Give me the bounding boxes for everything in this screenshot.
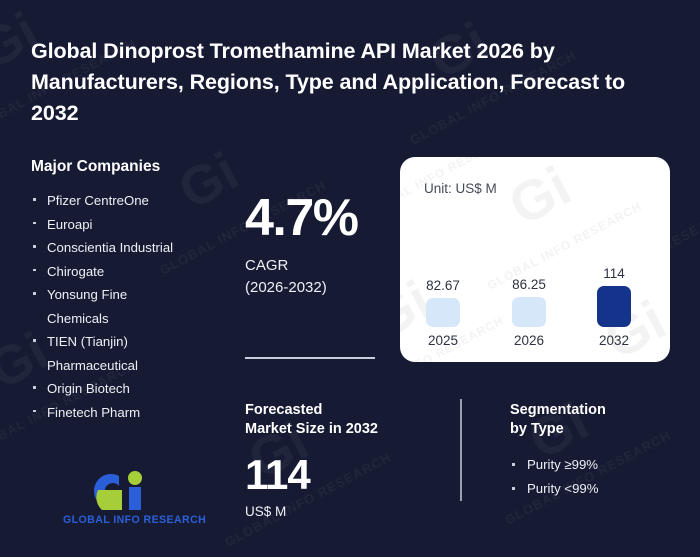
bar-category-label: 2025 xyxy=(428,333,458,348)
bullet-icon xyxy=(33,222,36,225)
segmentation-section: Segmentation by Type Purity ≥99% Purity … xyxy=(510,401,685,501)
major-companies-heading: Major Companies xyxy=(31,158,231,176)
list-item: Purity ≥99% xyxy=(510,453,685,477)
bar-value-label: 82.67 xyxy=(426,278,460,293)
cagr-label-line2: (2026-2032) xyxy=(245,277,385,299)
bullet-icon xyxy=(33,339,36,342)
forecast-heading-line2: Market Size in 2032 xyxy=(245,420,445,439)
bar-group-2032: 114 2032 xyxy=(586,266,642,348)
bar-value-label: 86.25 xyxy=(512,277,546,292)
company-label: Yonsung Fine xyxy=(47,287,127,302)
list-item: TIEN (Tianjin) xyxy=(31,330,231,354)
segmentation-heading-line1: Segmentation xyxy=(510,401,685,420)
list-item: Pfizer CentreOne xyxy=(31,189,231,213)
bullet-icon xyxy=(33,292,36,295)
segmentation-heading-line2: by Type xyxy=(510,420,685,439)
market-size-chart-card: Gi GLOBAL INFO RESEARCH Gi GLOBAL INFO R… xyxy=(400,157,670,362)
cagr-value: 4.7% xyxy=(245,190,385,246)
list-item-continuation: Chemicals xyxy=(31,307,231,331)
bar-2032 xyxy=(597,286,631,327)
segmentation-label: Purity ≥99% xyxy=(527,457,598,472)
company-label: Origin Biotech xyxy=(47,381,130,396)
bullet-icon xyxy=(512,487,515,490)
company-label: Chirogate xyxy=(47,264,104,279)
forecast-heading: Forecasted Market Size in 2032 xyxy=(245,401,445,439)
list-item: Finetech Pharm xyxy=(31,401,231,425)
company-label: Euroapi xyxy=(47,217,92,232)
page-title: Global Dinoprost Tromethamine API Market… xyxy=(31,36,671,129)
horizontal-divider xyxy=(245,357,375,359)
bullet-icon xyxy=(33,245,36,248)
major-companies-section: Major Companies Pfizer CentreOne Euroapi… xyxy=(31,158,231,424)
list-item: Euroapi xyxy=(31,213,231,237)
bullet-icon xyxy=(33,386,36,389)
logo-wordmark: GLOBAL INFO RESEARCH xyxy=(63,514,203,526)
forecast-value: 114 xyxy=(245,452,445,498)
bar-category-label: 2026 xyxy=(514,333,544,348)
bullet-icon xyxy=(33,198,36,201)
cagr-label: CAGR (2026-2032) xyxy=(245,255,385,299)
company-label: Pharmaceutical xyxy=(47,358,138,373)
bar-category-label: 2032 xyxy=(599,333,629,348)
cagr-label-line1: CAGR xyxy=(245,255,385,277)
bullet-icon xyxy=(512,463,515,466)
list-item: Conscientia Industrial xyxy=(31,236,231,260)
list-item: Purity <99% xyxy=(510,477,685,501)
company-label: Finetech Pharm xyxy=(47,405,140,420)
segmentation-list: Purity ≥99% Purity <99% xyxy=(510,453,685,501)
company-list: Pfizer CentreOne Euroapi Conscientia Ind… xyxy=(31,189,231,424)
vertical-divider xyxy=(460,399,462,501)
cagr-section: 4.7% CAGR (2026-2032) xyxy=(245,190,385,299)
list-item: Origin Biotech xyxy=(31,377,231,401)
bullet-icon xyxy=(33,410,36,413)
bar-group-2025: 82.67 2025 xyxy=(415,278,471,348)
bar-2025 xyxy=(426,298,460,327)
gi-logo-icon xyxy=(85,470,181,512)
company-logo: GLOBAL INFO RESEARCH xyxy=(63,470,203,532)
infographic-page: Global Dinoprost Tromethamine API Market… xyxy=(0,0,700,557)
company-label: TIEN (Tianjin) xyxy=(47,334,128,349)
bar-chart-plot: 82.67 2025 86.25 2026 114 2032 xyxy=(400,212,670,362)
list-item: Yonsung Fine xyxy=(31,283,231,307)
chart-unit-label: Unit: US$ M xyxy=(424,181,497,196)
bar-group-2026: 86.25 2026 xyxy=(501,277,557,348)
bullet-icon xyxy=(33,269,36,272)
list-item: Chirogate xyxy=(31,260,231,284)
segmentation-label: Purity <99% xyxy=(527,481,598,496)
company-label: Conscientia Industrial xyxy=(47,240,173,255)
company-label: Chemicals xyxy=(47,311,109,326)
bar-value-label: 114 xyxy=(603,266,625,281)
segmentation-heading: Segmentation by Type xyxy=(510,401,685,439)
forecast-section: Forecasted Market Size in 2032 114 US$ M xyxy=(245,401,445,519)
company-label: Pfizer CentreOne xyxy=(47,193,149,208)
bar-2026 xyxy=(512,297,546,327)
list-item-continuation: Pharmaceutical xyxy=(31,354,231,378)
forecast-unit: US$ M xyxy=(245,504,445,519)
forecast-heading-line1: Forecasted xyxy=(245,401,445,420)
